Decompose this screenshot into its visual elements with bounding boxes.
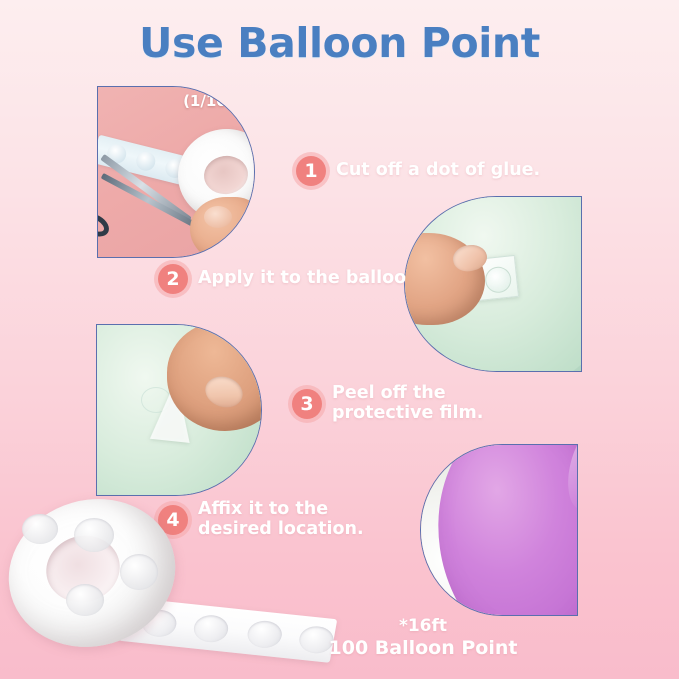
glue-dot xyxy=(192,614,231,644)
step-number-badge: 1 xyxy=(296,156,326,186)
step-label: Peel off the protective film. xyxy=(332,384,483,424)
panel4-photo xyxy=(421,445,577,615)
step-label: Cut off a dot of glue. xyxy=(336,161,540,181)
image-panel-apply-to-balloon xyxy=(404,196,582,372)
balloon-highlight xyxy=(560,444,578,514)
product-length: *16ft xyxy=(288,616,558,636)
glue-dot xyxy=(66,584,104,616)
image-panel-cut-glue-dot: (1/100) xyxy=(97,86,255,258)
glue-dot xyxy=(245,619,284,649)
panel2-photo xyxy=(405,197,581,371)
glue-dot xyxy=(22,514,58,544)
step-3-row: 3 Peel off the protective film. xyxy=(292,384,483,424)
scissors-handle-icon xyxy=(97,209,113,241)
product-caption: *16ft 100 Balloon Point xyxy=(288,616,558,659)
glue-dot xyxy=(134,150,157,173)
glue-dot xyxy=(120,554,158,590)
image-panel-peel-film xyxy=(96,324,262,496)
hand xyxy=(190,197,255,258)
panel3-photo xyxy=(97,325,261,495)
product-quantity: 100 Balloon Point xyxy=(288,637,558,659)
step-2-row: 2 Apply it to the balloon. xyxy=(158,264,425,294)
panel1-photo xyxy=(98,87,254,257)
image-panel-affix-balloons xyxy=(420,444,578,616)
product-tape-roll-image xyxy=(4,492,334,677)
step-label: Apply it to the balloon. xyxy=(198,269,425,289)
step-1-row: 1 Cut off a dot of glue. xyxy=(296,156,540,186)
infographic-root: Use Balloon Point (1/100) 1 Cut off a do… xyxy=(0,0,679,679)
glue-dot xyxy=(74,518,114,552)
quantity-badge: (1/100) xyxy=(183,92,244,110)
step-number-badge: 3 xyxy=(292,389,322,419)
page-title: Use Balloon Point xyxy=(0,19,679,67)
step-number-badge: 2 xyxy=(158,264,188,294)
